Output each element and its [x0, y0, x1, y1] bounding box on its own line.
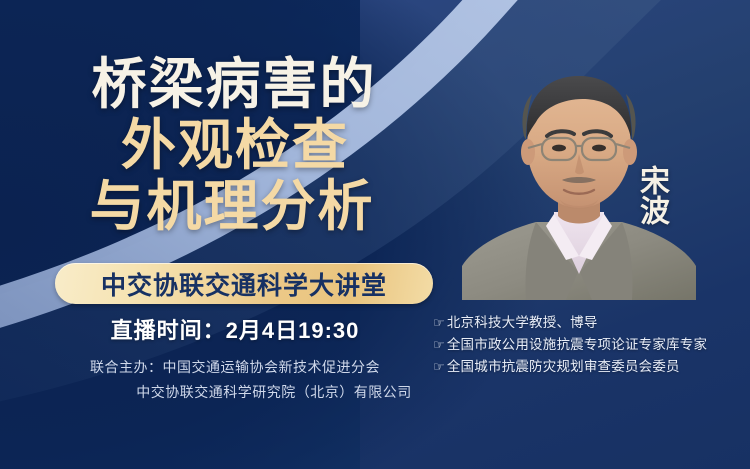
credential-text: 北京科技大学教授、博导 [447, 312, 598, 334]
organizers-block: 联合主办：中国交通运输协会新技术促进分会 中交协联交通科学研究院（北京）有限公司 [0, 355, 470, 404]
live-time-text: 直播时间：2月4日19:30 [0, 313, 470, 345]
title-line-3: 与机理分析 [14, 179, 450, 234]
poster-title: 桥梁病害的 外观检查 与机理分析 [0, 57, 450, 234]
speaker-portrait-photo [454, 60, 704, 300]
credential-text: 全国市政公用设施抗震专项论证专家库专家 [447, 334, 707, 356]
title-line-1: 桥梁病害的 [18, 57, 450, 112]
pointing-hand-icon: ☞ [433, 334, 445, 355]
credential-text: 全国城市抗震防灾规划审查委员会委员 [447, 356, 680, 378]
speaker-credentials: ☞ 北京科技大学教授、博导 ☞ 全国市政公用设施抗震专项论证专家库专家 ☞ 全国… [433, 312, 750, 378]
organizer-line-2: 中交协联交通科学研究院（北京）有限公司 [0, 380, 470, 405]
left-text-column: 桥梁病害的 外观检查 与机理分析 中交协联交通科学大讲堂 直播时间：2月4日19… [0, 0, 450, 469]
program-series-badge: 中交协联交通科学大讲堂 [55, 263, 433, 304]
credential-row: ☞ 全国城市抗震防灾规划审查委员会委员 [433, 356, 750, 378]
credential-row: ☞ 全国市政公用设施抗震专项论证专家库专家 [433, 334, 750, 356]
program-series-label: 中交协联交通科学大讲堂 [101, 266, 387, 302]
organizer-line-1: 联合主办：中国交通运输协会新技术促进分会 [0, 355, 470, 380]
title-line-2: 外观检查 [20, 118, 450, 173]
pointing-hand-icon: ☞ [433, 356, 445, 377]
pointing-hand-icon: ☞ [433, 312, 445, 333]
right-speaker-column: 宋波 ☞ 北京科技大学教授、博导 ☞ 全国市政公用设施抗震专项论证专家库专家 ☞… [420, 0, 750, 469]
webinar-poster: 桥梁病害的 外观检查 与机理分析 中交协联交通科学大讲堂 直播时间：2月4日19… [0, 0, 750, 469]
credential-row: ☞ 北京科技大学教授、博导 [433, 312, 750, 334]
